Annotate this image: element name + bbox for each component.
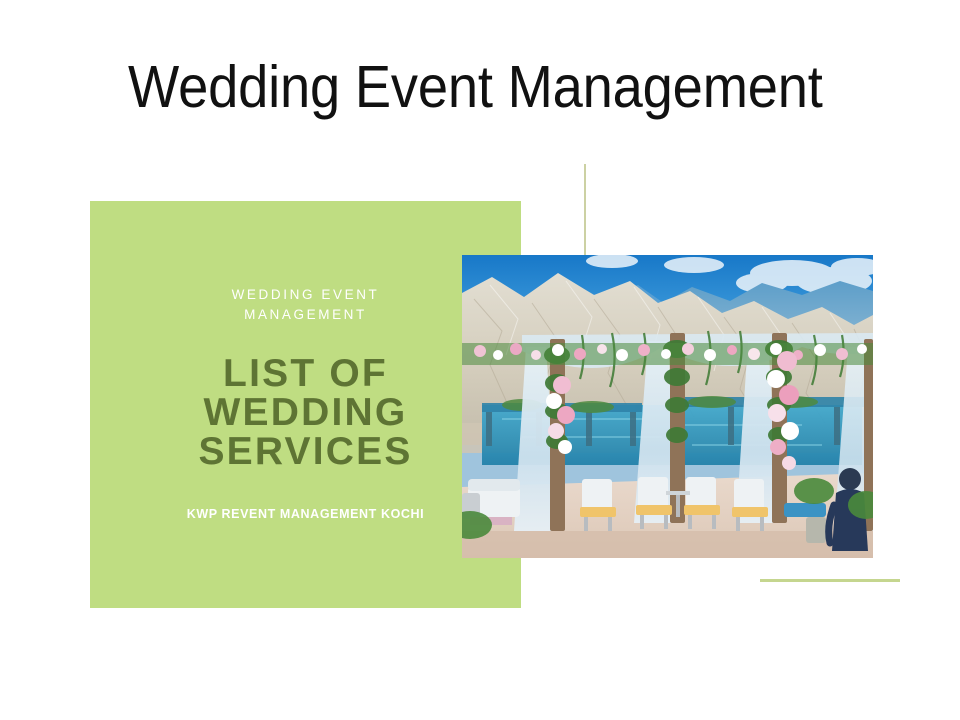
page-title: Wedding Event Management <box>128 52 827 122</box>
wedding-venue-photo <box>462 255 873 558</box>
card-footer-text: KWP REVENT MANAGEMENT KOCHI <box>187 505 425 523</box>
green-info-card: WEDDING EVENT MANAGEMENT LIST OF WEDDING… <box>90 201 521 608</box>
card-heading-text: LIST OF WEDDING SERVICES <box>166 354 446 471</box>
card-eyebrow-text: WEDDING EVENT MANAGEMENT <box>181 285 431 325</box>
slide: Wedding Event Management WEDDING EVENT M… <box>0 0 960 720</box>
vertical-accent-line <box>584 164 586 256</box>
wedding-venue-illustration <box>462 255 873 558</box>
horizontal-accent-line <box>760 579 900 582</box>
